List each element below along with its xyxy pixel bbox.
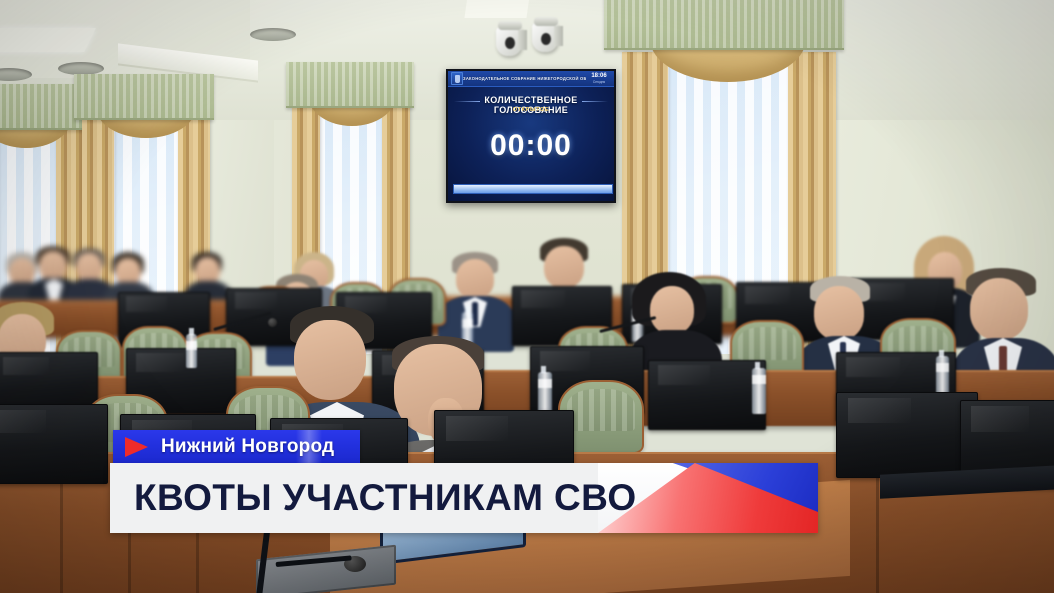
coat-of-arms-icon [451, 72, 463, 85]
screen-vote-mode: ОТКРЫТОЕ [448, 107, 614, 113]
water-bottle [186, 334, 197, 368]
voting-display-screen: ЗАКОНОДАТЕЛЬНОЕ СОБРАНИЕ НИЖЕГОРОДСКОЙ О… [446, 69, 616, 203]
screen-assembly-title: ЗАКОНОДАТЕЛЬНОЕ СОБРАНИЕ НИЖЕГОРОДСКОЙ О… [463, 76, 586, 81]
wall-camera-icon [496, 26, 522, 56]
screen-vote-timer: 00:00 [448, 129, 614, 163]
play-triangle-icon [125, 437, 148, 457]
ceiling-light-panel [0, 28, 96, 52]
headline-banner: КВОТЫ УЧАСТНИКАМ СВО [110, 463, 818, 533]
location-label: Нижний Новгород [161, 436, 334, 458]
screen-clock-date: Сегодня [586, 80, 612, 84]
broadcast-frame: ЗАКОНОДАТЕЛЬНОЕ СОБРАНИЕ НИЖЕГОРОДСКОЙ О… [0, 0, 1054, 593]
ceiling-light-panel [464, 0, 529, 18]
screen-clock-time: 18:06 [586, 73, 612, 80]
ceiling-speaker-icon [250, 28, 296, 41]
delegate-monitor [836, 392, 978, 478]
headline-text: КВОТЫ УЧАСТНИКАМ СВО [134, 477, 637, 519]
delegate-monitor [648, 360, 766, 430]
delegate-monitor [0, 404, 108, 484]
screen-clock: 18:06 Сегодня [586, 73, 614, 84]
screen-header-bar: ЗАКОНОДАТЕЛЬНОЕ СОБРАНИЕ НИЖЕГОРОДСКОЙ О… [448, 71, 614, 87]
location-banner: Нижний Новгород [113, 430, 360, 463]
person [438, 252, 512, 348]
screen-progress-bar [453, 184, 613, 194]
water-bottle [752, 368, 766, 414]
wall-camera-icon [532, 22, 558, 52]
